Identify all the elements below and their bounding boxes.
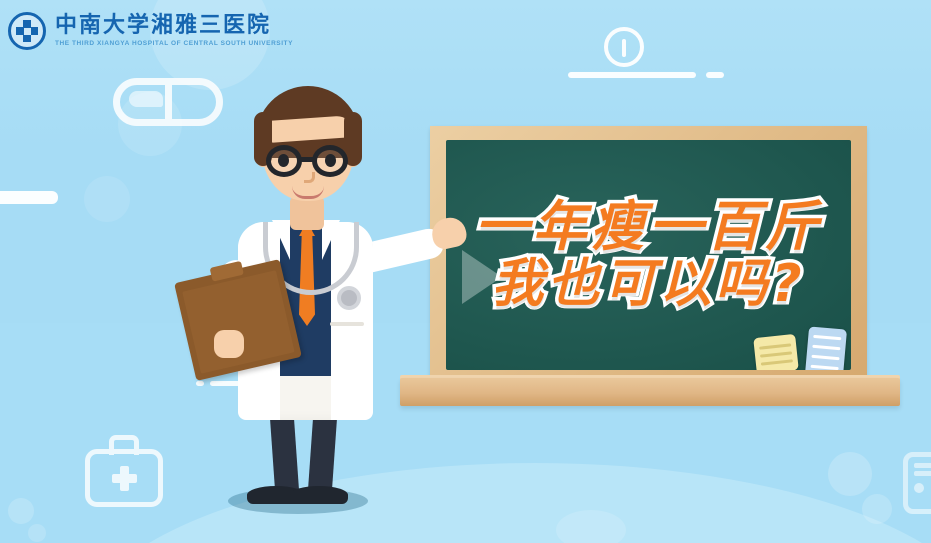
video-thumbnail-frame: 中南大学湘雅三医院 THE THIRD XIANGYA HOSPITAL OF … (0, 0, 931, 543)
doctor-neck (290, 196, 324, 230)
stethoscope-bell-icon (337, 286, 361, 310)
glasses-bridge-icon (300, 157, 316, 162)
doctor-eye-right (325, 154, 336, 167)
play-triangle-icon[interactable] (462, 250, 502, 304)
doctor-eye-left (278, 154, 289, 167)
doctor-coat-pocket-right (330, 322, 364, 326)
doctor-shoe-right (290, 486, 348, 504)
clipboard-paper (182, 270, 294, 373)
doctor-hand-left (214, 330, 244, 358)
